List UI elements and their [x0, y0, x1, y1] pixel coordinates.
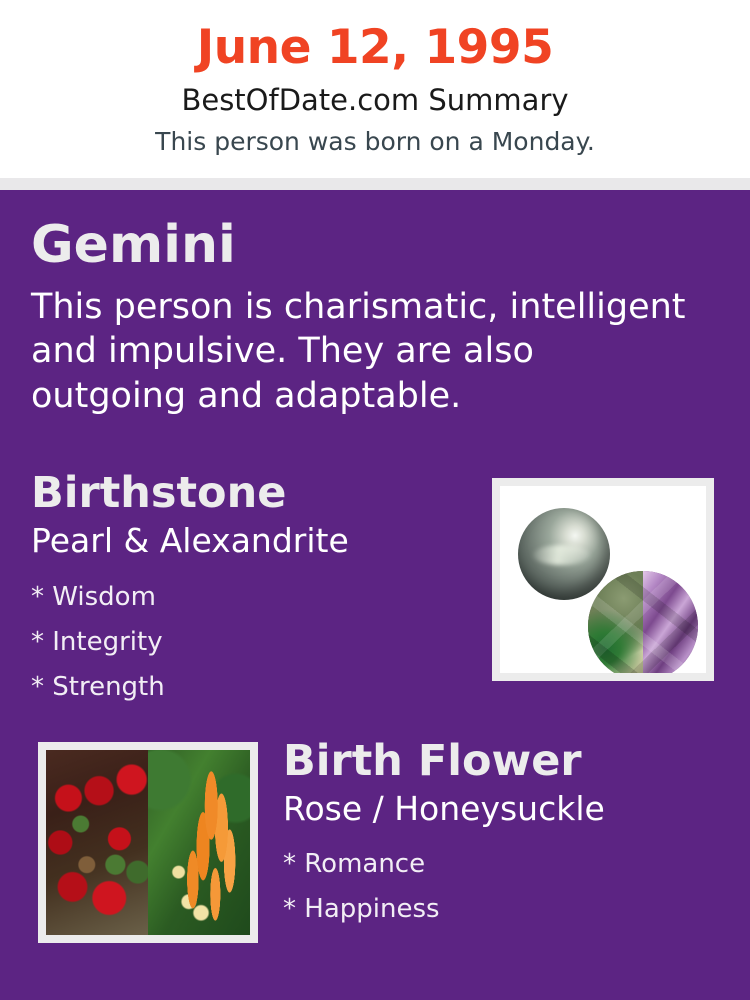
list-item: * Romance — [283, 842, 440, 887]
birthstone-traits-list: * Wisdom * Integrity * Strength — [31, 575, 165, 710]
alexandrite-gem-icon — [588, 571, 698, 673]
birthstone-heading: Birthstone — [31, 470, 286, 517]
zodiac-sign-heading: Gemini — [31, 217, 236, 274]
birthstone-image — [492, 478, 714, 681]
birth-flower-image-inner — [46, 750, 250, 935]
birthstone-image-inner — [500, 486, 706, 673]
birthstone-names: Pearl & Alexandrite — [31, 523, 349, 559]
birth-flower-image — [38, 742, 258, 943]
list-item: * Happiness — [283, 887, 440, 932]
page-title-date: June 12, 1995 — [0, 22, 750, 74]
birth-flower-names: Rose / Honeysuckle — [283, 791, 605, 827]
red-roses-photo-half — [46, 750, 148, 935]
birth-day-note: This person was born on a Monday. — [0, 128, 750, 156]
birth-flower-traits-list: * Romance * Happiness — [283, 842, 440, 932]
list-item: * Wisdom — [31, 575, 165, 620]
list-item: * Integrity — [31, 620, 165, 665]
zodiac-description: This person is charismatic, intelligent … — [31, 285, 696, 418]
site-name-subtitle: BestOfDate.com Summary — [0, 85, 750, 117]
summary-card: June 12, 1995 BestOfDate.com Summary Thi… — [0, 0, 750, 1000]
alexandrite-facet-overlay — [588, 571, 698, 673]
details-panel: Gemini This person is charismatic, intel… — [0, 190, 750, 1000]
header-divider — [0, 178, 750, 190]
orange-honeysuckle-photo-half — [148, 750, 250, 935]
header: June 12, 1995 BestOfDate.com Summary Thi… — [0, 0, 750, 178]
list-item: * Strength — [31, 665, 165, 710]
birth-flower-heading: Birth Flower — [283, 738, 582, 785]
